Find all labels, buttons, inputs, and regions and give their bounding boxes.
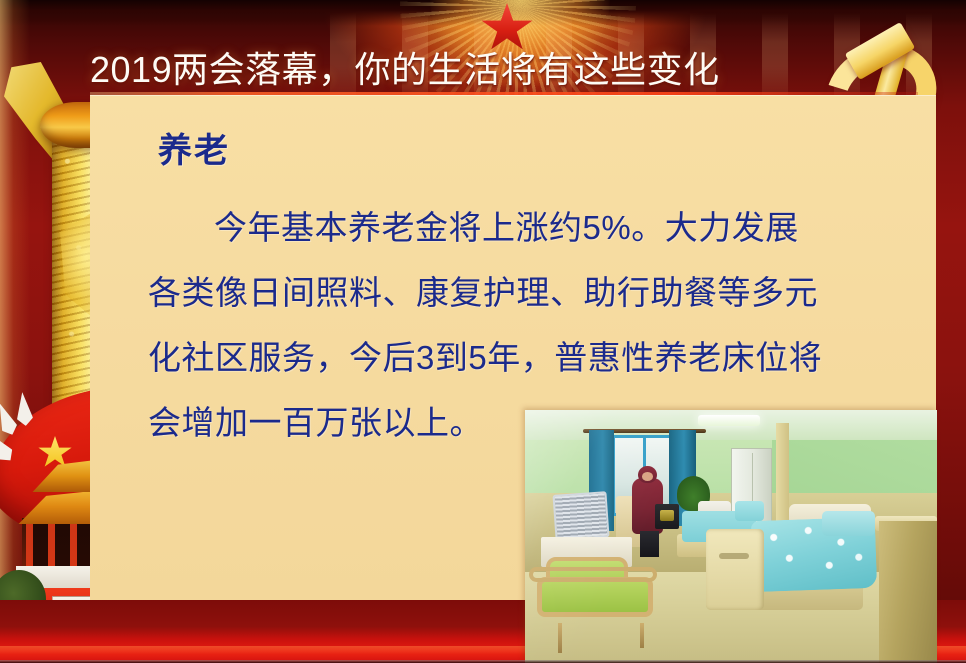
photo-elderly-woman-face <box>642 472 653 481</box>
slide-title-bar: 2019两会落幕，你的生活将有这些变化 <box>90 44 790 96</box>
photo-bed-one-pillow <box>822 511 876 536</box>
photo-armchair-seat <box>537 577 652 617</box>
section-heading: 养老 <box>158 123 230 172</box>
photo-armchair-arm <box>529 567 657 582</box>
photo-bed-one-footboard <box>706 529 764 610</box>
photo-bed-two-pillow <box>735 501 764 521</box>
photo-armchair-leg-left <box>558 623 562 653</box>
body-line-1: 今年基本养老金将上涨约5%。大力发展 <box>148 195 908 260</box>
photo-elderly-woman-bag <box>655 504 680 529</box>
body-line-3: 化社区服务，今后3到5年，普惠性养老床位将 <box>148 325 908 390</box>
photo-wood-post <box>776 423 789 524</box>
slide-title: 2019两会落幕，你的生活将有这些变化 <box>90 50 720 90</box>
presentation-slide: 2019两会落幕，你的生活将有这些变化 养老 今年基本养老金将上涨约5%。大力发… <box>0 0 966 663</box>
body-line-2: 各类像日间照料、康复护理、助行助餐等多元 <box>148 260 908 325</box>
photo-elderly-woman-legs <box>640 531 659 556</box>
photo-right-cabinet <box>879 521 937 663</box>
photo-ceiling-light <box>698 415 760 426</box>
nursing-home-room-photo <box>525 410 937 663</box>
photo-armchair-leg-right <box>640 623 644 648</box>
photo-desk-chair <box>552 492 609 541</box>
